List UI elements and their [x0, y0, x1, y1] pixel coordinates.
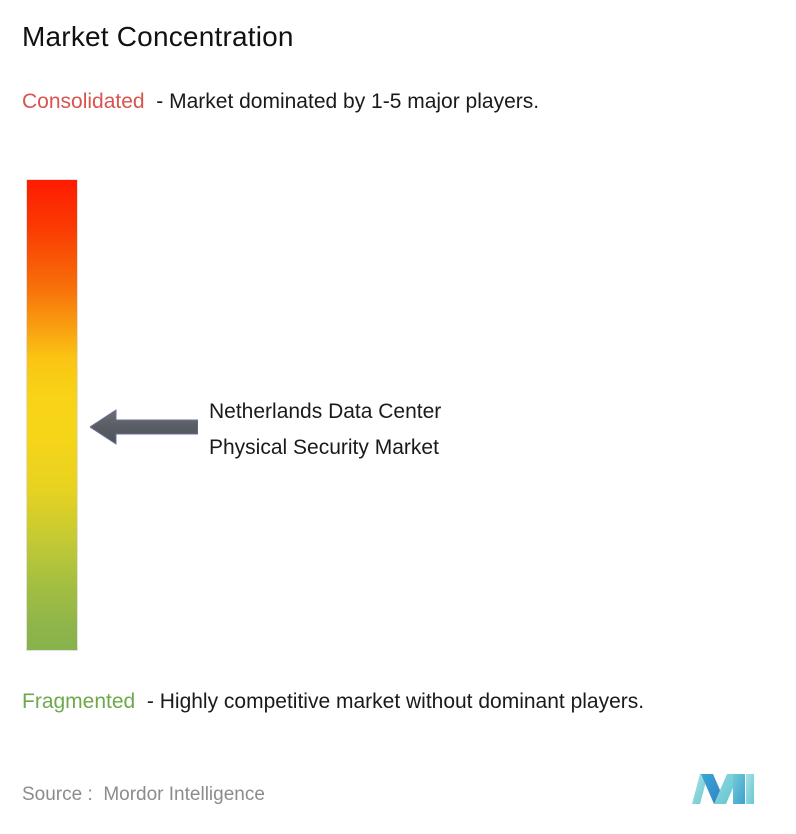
legend-consolidated-keyword: Consolidated — [22, 90, 145, 113]
legend-consolidated-separator: - — [145, 90, 170, 113]
market-callout-line-1: Netherlands Data Center — [209, 394, 629, 430]
legend-consolidated: Consolidated - Market dominated by 1-5 m… — [22, 86, 768, 117]
legend-consolidated-description: Market dominated by 1-5 major players. — [169, 90, 539, 113]
arrow-left-icon — [90, 406, 198, 448]
page-title: Market Concentration — [22, 20, 294, 54]
market-callout-line-2: Physical Security Market — [209, 430, 629, 466]
market-callout-label: Netherlands Data Center Physical Securit… — [209, 394, 629, 466]
concentration-gradient-bar — [27, 180, 77, 650]
legend-fragmented: Fragmented - Highly competitive market w… — [22, 686, 782, 717]
source-attribution: Source : Mordor Intelligence — [22, 783, 265, 807]
mordor-intelligence-logo — [692, 770, 760, 812]
legend-fragmented-keyword: Fragmented — [22, 690, 135, 713]
legend-fragmented-description: Highly competitive market without domina… — [160, 690, 644, 713]
legend-fragmented-separator: - — [135, 690, 160, 713]
